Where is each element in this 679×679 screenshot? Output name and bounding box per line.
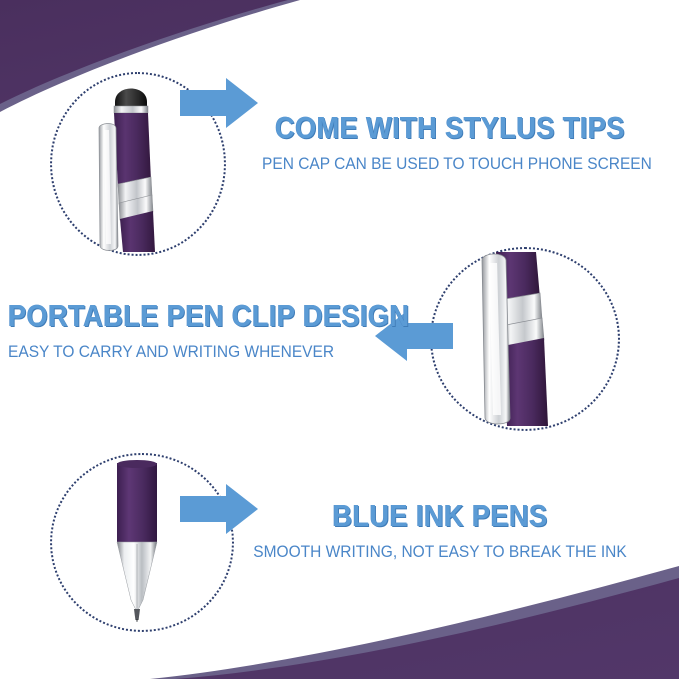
ink-subline: SMOOTH WRITING, NOT EASY TO BREAK THE IN…: [247, 543, 632, 563]
stylus-headline: COME WITH STYLUS TIPS: [274, 112, 626, 145]
stylus-text-block: COME WITH STYLUS TIPS PEN CAP CAN BE USE…: [250, 112, 650, 174]
pen-image-stylus-tip: [85, 76, 185, 252]
barrel-top-cap: [117, 460, 157, 468]
clip-text-block: PORTABLE PEN CLIP DESIGN EASY TO CARRY A…: [8, 300, 388, 362]
pen-image-clip-closeup: [470, 250, 580, 426]
stylus-dome: [115, 89, 147, 108]
clip-subline: EASY TO CARRY AND WRITING WHENEVER: [8, 343, 365, 363]
pen-image-writing-tip: [95, 460, 185, 622]
stylus-subline: PEN CAP CAN BE USED TO TOUCH PHONE SCREE…: [262, 155, 638, 175]
ink-headline: BLUE INK PENS: [260, 500, 621, 533]
ink-text-block: BLUE INK PENS SMOOTH WRITING, NOT EASY T…: [235, 500, 645, 562]
pen-point-ball: [136, 619, 137, 622]
cap-barrel: [114, 113, 151, 188]
stylus-collar: [114, 106, 148, 113]
clip-headline: PORTABLE PEN CLIP DESIGN: [8, 300, 342, 333]
pen-point: [134, 609, 140, 620]
infographic-poster: COME WITH STYLUS TIPS PEN CAP CAN BE USE…: [0, 0, 679, 679]
bottom-right-swoosh: [175, 578, 679, 679]
arrow-right-icon-stylus: [180, 76, 258, 132]
ink-barrel: [117, 463, 157, 542]
